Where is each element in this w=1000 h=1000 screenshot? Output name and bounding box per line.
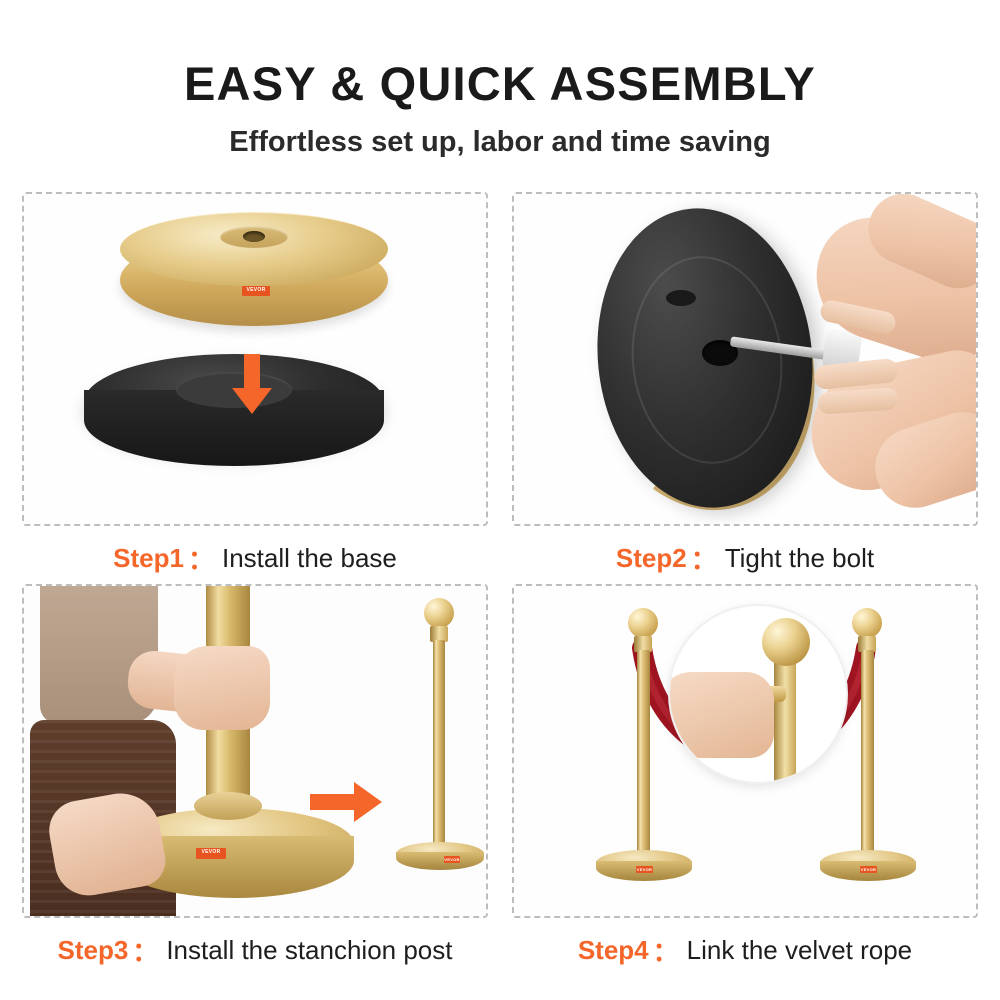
step-1-label: Step1 (113, 543, 184, 574)
hook-closeup-circle (670, 606, 846, 782)
stanchion-ball-top (424, 598, 454, 628)
brand-tag-icon: VEVOR (196, 848, 226, 859)
upper-hand-gripping-post (174, 646, 270, 730)
step-3-cell: VEVOR VEVOR Step3 (22, 584, 488, 970)
down-arrow-icon (230, 354, 274, 416)
brand-tag-icon: VEVOR (444, 856, 460, 863)
post-collar (194, 792, 262, 820)
step-4-text: Link the velvet rope (687, 935, 912, 966)
stanchion-pole (433, 640, 445, 852)
closeup-hand (670, 672, 774, 758)
step-3-text: Install the stanchion post (166, 935, 452, 966)
step-2-colon: ： (691, 540, 717, 577)
page-title: EASY & QUICK ASSEMBLY (0, 56, 1000, 111)
install-the-base-illustration: VEVOR (24, 194, 486, 524)
step-1-image: VEVOR (22, 192, 488, 526)
underside-slot (666, 290, 696, 306)
steps-grid: VEVOR Step1 ： Install the base (22, 192, 978, 976)
step-2-label: Step2 (616, 543, 687, 574)
step-3-label: Step3 (57, 935, 128, 966)
step-3-image: VEVOR VEVOR (22, 584, 488, 918)
brand-tag-icon: VEVOR (636, 866, 653, 873)
right-arrow-icon (310, 782, 382, 822)
closeup-pole (774, 654, 796, 782)
step-4-label: Step4 (578, 935, 649, 966)
step-3-colon: ： (132, 932, 158, 969)
gold-cover-top (120, 212, 388, 286)
step-1-text: Install the base (222, 543, 397, 574)
stanchion-ball-top (628, 608, 658, 638)
brand-tag-icon: VEVOR (242, 286, 270, 296)
cover-center-hole (243, 231, 265, 242)
step-2-cell: Step2 ： Tight the bolt (512, 192, 978, 578)
step-1-cell: VEVOR Step1 ： Install the base (22, 192, 488, 578)
page-subtitle: Effortless set up, labor and time saving (0, 126, 1000, 159)
step-4-cell: VEVOR VEVOR (512, 584, 978, 970)
tight-the-bolt-illustration (514, 194, 976, 524)
assembly-infographic: EASY & QUICK ASSEMBLY Effortless set up,… (0, 0, 1000, 1000)
stanchion-pole (637, 650, 650, 862)
stanchion-ball-top (852, 608, 882, 638)
step-2-image (512, 192, 978, 526)
stanchion-pole (861, 650, 874, 862)
install-the-stanchion-post-illustration: VEVOR VEVOR (24, 586, 486, 916)
brand-tag-icon: VEVOR (860, 866, 877, 873)
closeup-ball-top (762, 618, 810, 666)
step-1-caption: Step1 ： Install the base (22, 538, 488, 578)
step-4-image: VEVOR VEVOR (512, 584, 978, 918)
step-3-caption: Step3 ： Install the stanchion post (22, 930, 488, 970)
link-the-velvet-rope-illustration: VEVOR VEVOR (514, 586, 976, 916)
step-1-colon: ： (188, 540, 214, 577)
step-2-caption: Step2 ： Tight the bolt (512, 538, 978, 578)
step-4-caption: Step4 ： Link the velvet rope (512, 930, 978, 970)
step-4-colon: ： (653, 932, 679, 969)
step-2-text: Tight the bolt (725, 543, 874, 574)
